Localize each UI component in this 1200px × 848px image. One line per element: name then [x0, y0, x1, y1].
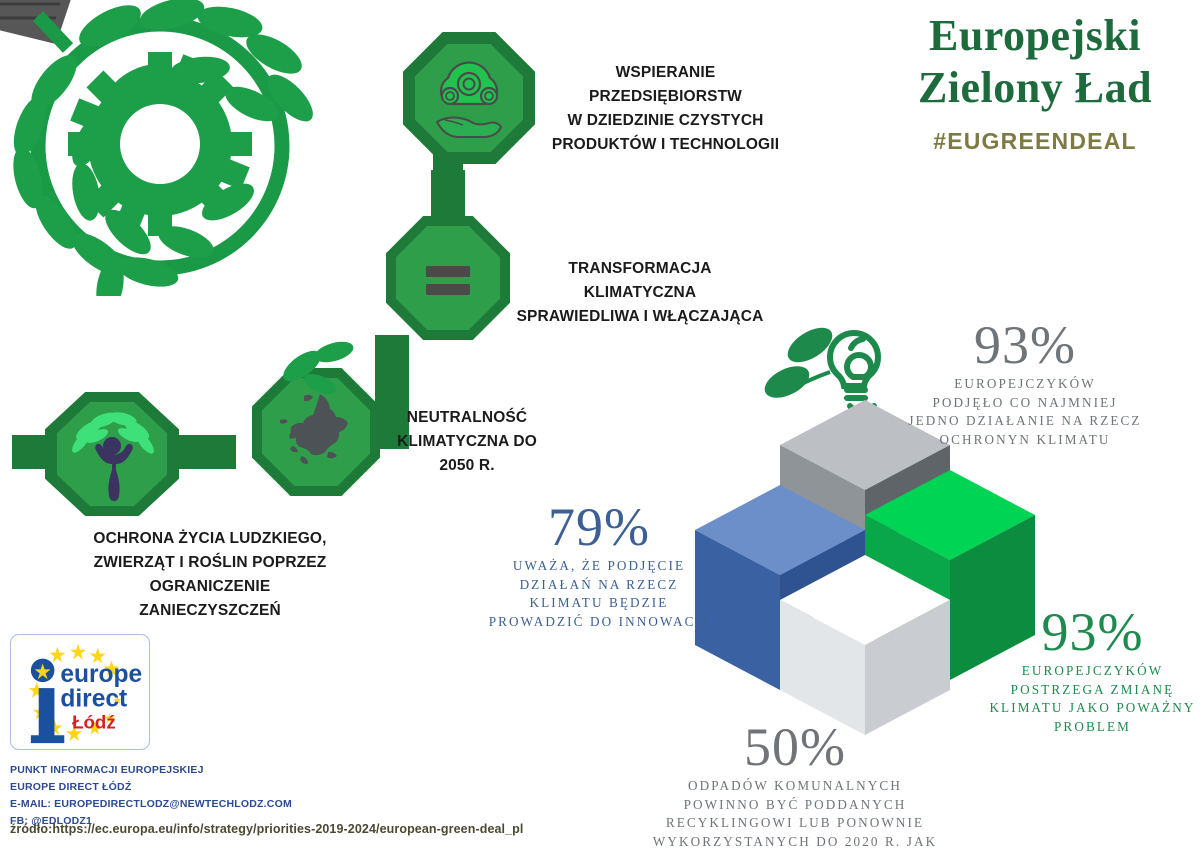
- stat-description-white: ODPADÓW KOMUNALNYCH POWINNO BYĆ PODDANYC…: [645, 777, 945, 848]
- logo-text-direct: direct: [60, 686, 127, 713]
- step-label-1: WSPIERANIE PRZEDSIĘBIORSTW W DZIEDZINIE …: [548, 61, 783, 157]
- source-link[interactable]: źródło:https://ec.europa.eu/info/strateg…: [10, 822, 523, 836]
- contact-info: PUNKT INFORMACJI EUROPEJSKIEJ EUROPE DIR…: [10, 762, 292, 830]
- lightbulb-gear-leaves-decoration: [0, 0, 320, 296]
- sidebar-item-step-1-icon-bg: [415, 44, 523, 152]
- stat-description-blue: UWAŻA, ŻE PODJĘCIE DZIAŁAŃ NA RZECZ KLIM…: [488, 557, 710, 632]
- page-title: Europejski Zielony Ład #EUGREENDEAL: [880, 10, 1190, 155]
- step-label-4: OCHRONA ŻYCIA LUDZKIEGO, ZWIERZĄT I ROŚL…: [90, 527, 330, 623]
- stat-percent-white: 50%: [645, 720, 945, 774]
- gears-cloud-hand-icon: [415, 44, 523, 152]
- title-line-2: Zielony Ład: [880, 62, 1190, 114]
- logo-text-europe: europe: [60, 661, 142, 688]
- stat-block-green: 93% EUROPEJCZYKÓW POSTRZEGA ZMIANĘ KLIMA…: [985, 605, 1200, 737]
- stat-description-green: EUROPEJCZYKÓW POSTRZEGA ZMIANĘ KLIMATU J…: [985, 662, 1200, 737]
- stat-block-grey: 93% EUROPEJCZYKÓW PODJĘŁO CO NAJMNIEJ JE…: [900, 318, 1150, 450]
- stat-block-white: 50% ODPADÓW KOMUNALNYCH POWINNO BYĆ PODD…: [645, 720, 945, 848]
- europe-direct-lodz-logo: europe direct Łódź: [10, 634, 150, 750]
- logo-text-lodz: Łódź: [72, 711, 116, 732]
- europe-map-icon: [262, 378, 370, 486]
- title-line-1: Europejski: [880, 10, 1190, 62]
- equals-icon: [396, 226, 500, 330]
- step-label-3: NEUTRALNOŚĆ KLIMATYCZNA DO 2050 R.: [382, 406, 552, 478]
- hashtag-label: #EUGREENDEAL: [880, 128, 1190, 155]
- stat-block-blue: 79% UWAŻA, ŻE PODJĘCIE DZIAŁAŃ NA RZECZ …: [488, 500, 710, 632]
- person-leaves-icon: [57, 402, 167, 506]
- sidebar-item-step-4-icon-bg: [57, 402, 167, 506]
- sidebar-item-step-3-icon-bg: [262, 378, 370, 486]
- infographic-page: WSPIERANIE PRZEDSIĘBIORSTW W DZIEDZINIE …: [0, 0, 1200, 848]
- step-label-2: TRANSFORMACJA KLIMATYCZNA SPRAWIEDLIWA I…: [515, 257, 765, 329]
- stat-percent-grey: 93%: [900, 318, 1150, 372]
- leaf-sprig-decoration: [272, 330, 358, 394]
- stat-percent-blue: 79%: [488, 500, 710, 554]
- stat-description-grey: EUROPEJCZYKÓW PODJĘŁO CO NAJMNIEJ JEDNO …: [900, 375, 1150, 450]
- stat-percent-green: 93%: [985, 605, 1200, 659]
- sidebar-item-step-2-icon-bg: [396, 226, 500, 330]
